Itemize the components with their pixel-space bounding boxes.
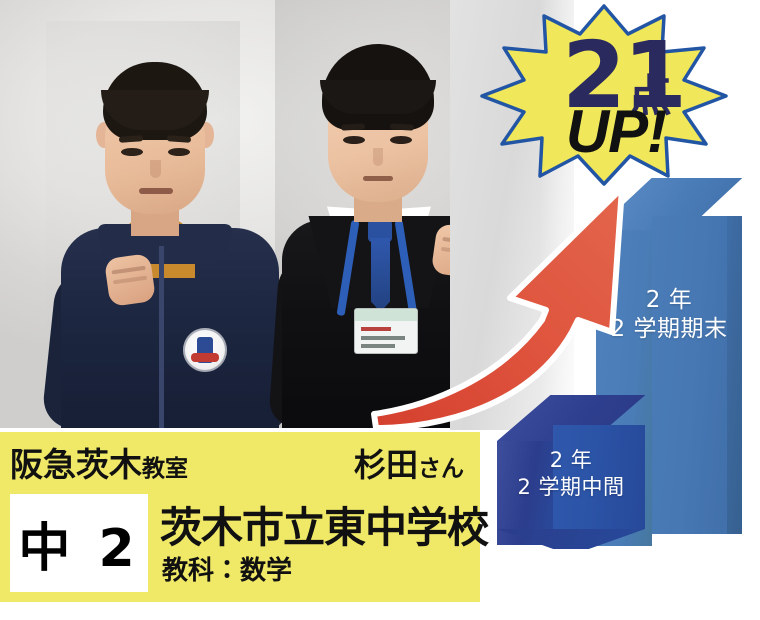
school-name: 茨木市立東中学校 (160, 494, 488, 555)
classroom-name: 阪急茨木教室 (10, 438, 188, 486)
fist-knuckle-line (111, 266, 145, 275)
bar-left-face (497, 441, 553, 545)
subject-label: 教科：数学 (162, 550, 292, 587)
score-up-badge: 21 点 UP! (478, 4, 730, 186)
student-right-nose (373, 148, 383, 166)
student-left-figure (55, 60, 285, 428)
arrow-shape (374, 188, 622, 428)
bar-right-face (553, 425, 645, 529)
caption-header-row: 阪急茨木教室 杉田さん (0, 432, 480, 490)
emblem-ribbon (191, 353, 219, 362)
student-right-fringe (320, 80, 436, 114)
bar-bottom-face (497, 529, 645, 549)
student-name: 杉田さん (354, 440, 464, 486)
bar-label-term2-midterm: 2 年 2 学期中間 (497, 447, 645, 501)
student-right-eye-right (390, 136, 412, 144)
up-label: UP! (536, 102, 696, 162)
classroom-name-suffix: 教室 (142, 456, 188, 482)
student-right-brow-left (341, 123, 365, 130)
student-left-eye-left (121, 148, 143, 156)
bar-label-line2: 2 学期中間 (497, 474, 645, 501)
student-left-fist (104, 253, 156, 307)
student-left-mouth (139, 188, 173, 194)
student-left-zipper (159, 246, 164, 428)
student-name-main: 杉田 (354, 446, 418, 484)
growth-arrow (360, 170, 630, 430)
bar-label-line1: 2 年 (497, 447, 645, 474)
poster-canvas: 2 年 2 学期期末 2 年 2 学期中間 (0, 0, 760, 620)
classroom-name-main: 阪急茨木 (10, 445, 142, 484)
grade-label: 中 2 (18, 506, 139, 581)
student-right-brow-right (390, 123, 414, 130)
bar-right-face (652, 216, 742, 534)
student-right-eye-left (343, 136, 365, 144)
student-left-emblem (183, 328, 227, 372)
badge-text-group: 21 点 UP! (478, 4, 730, 186)
bar-right-edge (727, 216, 742, 534)
student-left-nose (150, 160, 161, 178)
student-left-eye-right (168, 148, 190, 156)
caption-panel: 阪急茨木教室 杉田さん 中 2 茨木市立東中学校 教科：数学 (0, 432, 480, 602)
fist-knuckle-line (113, 276, 147, 285)
grade-box: 中 2 (10, 494, 148, 592)
student-name-suffix: さん (418, 456, 464, 482)
